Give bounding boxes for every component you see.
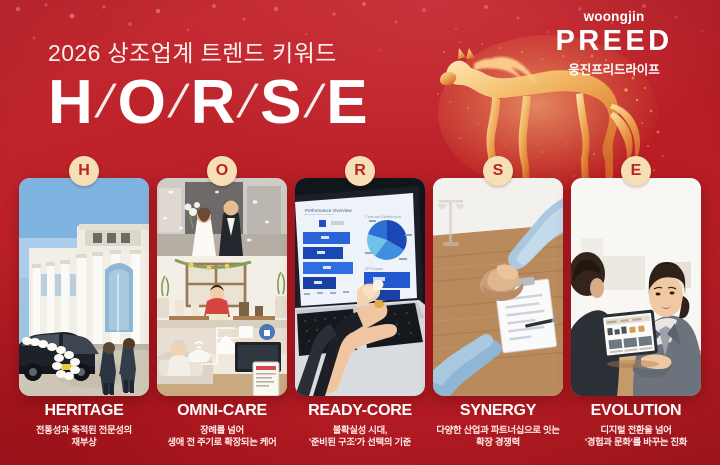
heritage-photo — [19, 178, 149, 396]
caption-sub-line: 전통성과 축적된 전문성의 — [19, 424, 149, 436]
badge-letter-e: E — [621, 156, 651, 186]
synergy-photo — [433, 178, 563, 396]
poster-canvas: woongjin PREED 웅진프리드라이프 2026 상조업계 트렌드 키워… — [0, 0, 720, 465]
card-column-omni-care: O — [157, 168, 287, 400]
caption-title-omni-care: OMNI-CARE — [157, 402, 287, 420]
caption-sub-line: 재부상 — [19, 436, 149, 448]
caption-omni-care: OMNI-CARE 장례를 넘어 생애 전 주기로 확장되는 케어 — [157, 402, 287, 465]
acronym-letter-h: H — [48, 72, 93, 134]
caption-sub-omni-care: 장례를 넘어 생애 전 주기로 확장되는 케어 — [157, 424, 287, 449]
card-image-heritage[interactable] — [19, 178, 149, 396]
acronym-letter-r: R — [191, 72, 236, 134]
caption-title-heritage: HERITAGE — [19, 402, 149, 420]
brand-preed: PREED — [526, 26, 702, 56]
caption-sub-heritage: 전통성과 축적된 전문성의 재부상 — [19, 424, 149, 449]
caption-heritage: HERITAGE 전통성과 축적된 전문성의 재부상 — [19, 402, 149, 465]
headline-block: 2026 상조업계 트렌드 키워드 H / O / R / S / E — [48, 40, 368, 134]
acronym-letter-o: O — [118, 72, 166, 134]
card-image-ready-core[interactable]: Performance Overview — [295, 178, 425, 396]
acronym-slash-3: / — [235, 78, 261, 124]
omni-care-photo — [157, 178, 287, 396]
headline-kicker: 2026 상조업계 트렌드 키워드 — [48, 40, 368, 66]
caption-synergy: SYNERGY 다양한 산업과 파트너십으로 잇는 확장 경쟁력 — [433, 402, 563, 465]
brand-logo: woongjin PREED 웅진프리드라이프 — [526, 10, 702, 78]
badge-letter-h: H — [69, 156, 99, 186]
caption-sub-line: 불확실성 시대, — [295, 424, 425, 436]
caption-sub-line: 다양한 산업과 파트너십으로 잇는 — [433, 424, 563, 436]
caption-sub-line: 장례를 넘어 — [157, 424, 287, 436]
card-image-evolution[interactable] — [571, 178, 701, 396]
badge-letter-r: R — [345, 156, 375, 186]
caption-sub-line: '준비된 구조'가 선택의 기준 — [295, 436, 425, 448]
svg-text:Performance Overview: Performance Overview — [305, 208, 352, 213]
badge-letter-o: O — [207, 156, 237, 186]
acronym-slash-4: / — [301, 78, 327, 124]
brand-korean-name: 웅진프리드라이프 — [526, 59, 702, 78]
card-column-heritage: H — [19, 168, 149, 400]
svg-text:KPI Growth: KPI Growth — [365, 267, 383, 271]
badge-letter-s: S — [483, 156, 513, 186]
horse-acronym: H / O / R / S / E — [48, 72, 368, 134]
caption-sub-evolution: 디지털 전환을 넘어 '경험과 문화'를 바꾸는 진화 — [571, 424, 701, 449]
brand-woongjin: woongjin — [526, 10, 702, 24]
card-column-synergy: S — [433, 168, 563, 400]
caption-evolution: EVOLUTION 디지털 전환을 넘어 '경험과 문화'를 바꾸는 진화 — [571, 402, 701, 465]
card-image-synergy[interactable] — [433, 178, 563, 396]
caption-row: HERITAGE 전통성과 축적된 전문성의 재부상 OMNI-CARE 장례를… — [0, 402, 720, 465]
svg-text:Channel Distribution: Channel Distribution — [365, 214, 401, 219]
acronym-letter-e: E — [326, 72, 367, 134]
caption-sub-line: 생애 전 주기로 확장되는 케어 — [157, 436, 287, 448]
ready-core-photo: Performance Overview — [295, 178, 425, 396]
caption-sub-synergy: 다양한 산업과 파트너십으로 잇는 확장 경쟁력 — [433, 424, 563, 449]
card-image-omni-care[interactable] — [157, 178, 287, 396]
caption-title-ready-core: READY-CORE — [295, 402, 425, 420]
caption-sub-line: 확장 경쟁력 — [433, 436, 563, 448]
acronym-letter-s: S — [260, 72, 301, 134]
acronym-slash-2: / — [165, 78, 191, 124]
card-column-evolution: E — [571, 168, 701, 400]
caption-title-synergy: SYNERGY — [433, 402, 563, 420]
card-strip: H — [0, 168, 720, 400]
caption-sub-line: '경험과 문화'를 바꾸는 진화 — [571, 436, 701, 448]
evolution-photo — [571, 178, 701, 396]
caption-title-evolution: EVOLUTION — [571, 402, 701, 420]
card-column-ready-core: Performance Overview — [295, 168, 425, 400]
acronym-slash-1: / — [92, 78, 118, 124]
caption-ready-core: READY-CORE 불확실성 시대, '준비된 구조'가 선택의 기준 — [295, 402, 425, 465]
caption-sub-ready-core: 불확실성 시대, '준비된 구조'가 선택의 기준 — [295, 424, 425, 449]
caption-sub-line: 디지털 전환을 넘어 — [571, 424, 701, 436]
